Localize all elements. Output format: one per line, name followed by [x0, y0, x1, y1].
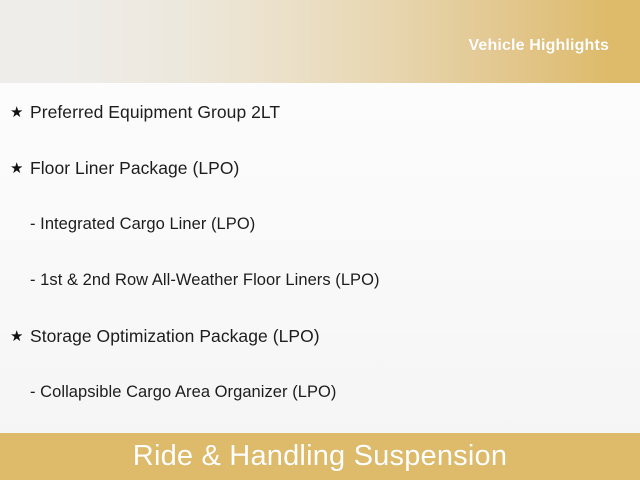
- list-item-sub: - Integrated Cargo Liner (LPO): [0, 212, 640, 236]
- feature-list: ★ Preferred Equipment Group 2LT ★ Floor …: [0, 83, 640, 433]
- list-item: ★ Floor Liner Package (LPO): [0, 156, 640, 180]
- list-item-sub: - Collapsible Cargo Area Organizer (LPO): [0, 380, 640, 404]
- star-bullet-icon: ★: [10, 161, 30, 176]
- feature-sub-label: - Collapsible Cargo Area Organizer (LPO): [30, 382, 336, 402]
- list-item-sub: - 1st & 2nd Row All-Weather Floor Liners…: [0, 268, 640, 292]
- star-bullet-icon: ★: [10, 329, 30, 344]
- feature-label: Storage Optimization Package (LPO): [30, 326, 320, 346]
- feature-label: Preferred Equipment Group 2LT: [30, 102, 280, 122]
- footer-banner: Ride & Handling Suspension: [0, 433, 640, 480]
- list-item: ★ Storage Optimization Package (LPO): [0, 324, 640, 348]
- feature-sub-label: - 1st & 2nd Row All-Weather Floor Liners…: [30, 270, 380, 290]
- star-bullet-icon: ★: [10, 105, 30, 120]
- feature-sub-label: - Integrated Cargo Liner (LPO): [30, 214, 255, 234]
- header-banner: Vehicle Highlights: [0, 0, 640, 83]
- vehicle-highlights-slide: Vehicle Highlights ★ Preferred Equipment…: [0, 0, 640, 480]
- footer-title: Ride & Handling Suspension: [133, 442, 507, 471]
- feature-label: Floor Liner Package (LPO): [30, 158, 239, 178]
- page-title: Vehicle Highlights: [468, 28, 640, 55]
- list-item: ★ Preferred Equipment Group 2LT: [0, 100, 640, 124]
